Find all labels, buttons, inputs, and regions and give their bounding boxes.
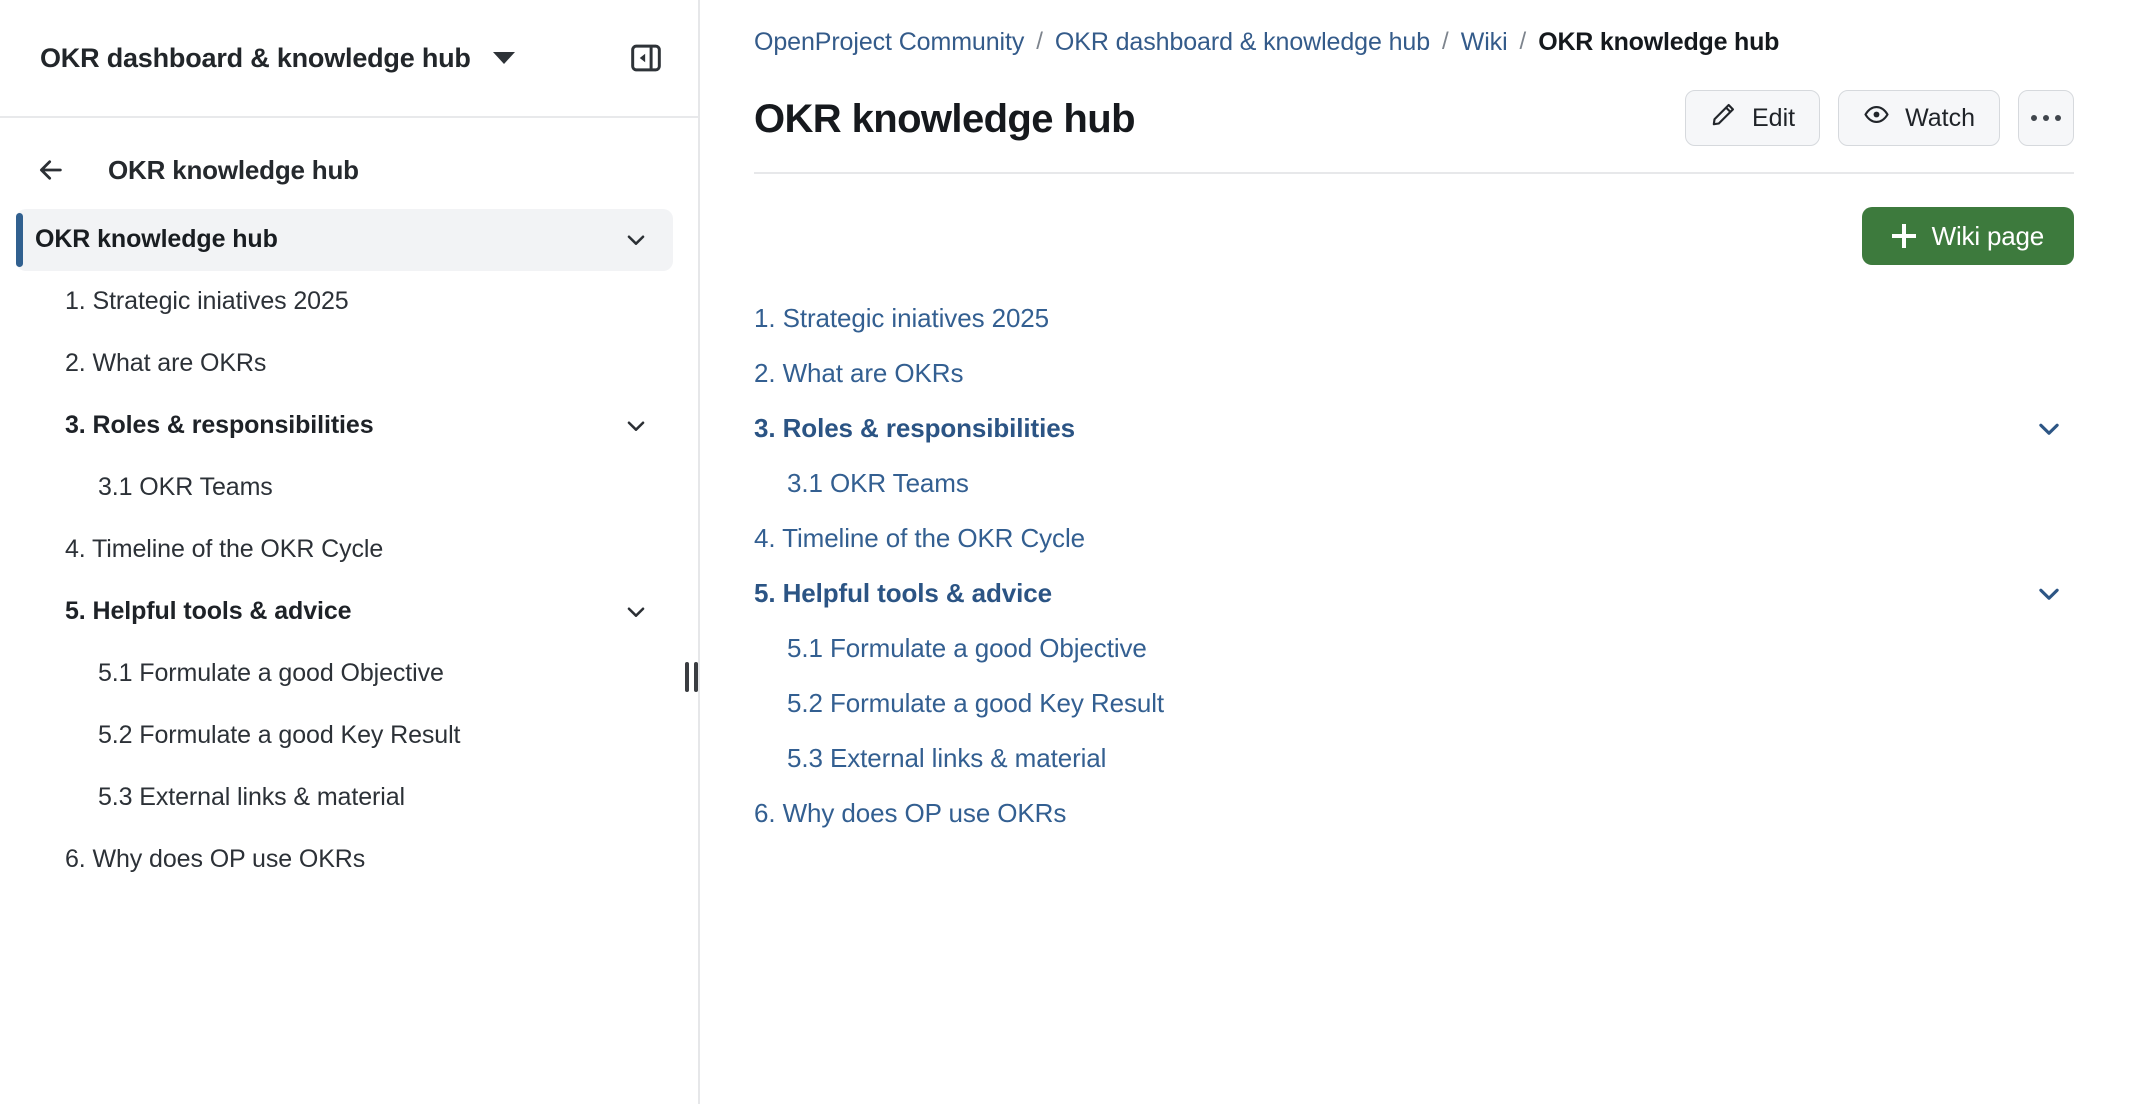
breadcrumb: OpenProject Community / OKR dashboard & …: [754, 0, 2074, 84]
sidebar-item-external-links-material[interactable]: 5.3 External links & material: [16, 767, 673, 829]
sidebar-item-roles-responsibilities[interactable]: 3. Roles & responsibilities: [16, 395, 673, 457]
list-item[interactable]: 2. What are OKRs: [754, 346, 2074, 401]
resize-grip-bar: [685, 662, 689, 692]
sidebar-item-okr-knowledge-hub[interactable]: OKR knowledge hub: [16, 209, 673, 271]
chevron-down-icon[interactable]: [2032, 412, 2066, 446]
sidebar-item-strategic-iniatives-2025[interactable]: 1. Strategic iniatives 2025: [16, 271, 673, 333]
sidebar-header: OKR dashboard & knowledge hub: [0, 0, 698, 118]
wiki-link-okr-teams[interactable]: 3.1 OKR Teams: [787, 468, 969, 499]
chevron-down-icon[interactable]: [621, 225, 651, 255]
list-item[interactable]: 3.1 OKR Teams: [754, 456, 2074, 511]
sidebar-collapse-icon[interactable]: [620, 32, 672, 84]
sidebar-back-row[interactable]: OKR knowledge hub: [0, 131, 698, 209]
project-selector[interactable]: OKR dashboard & knowledge hub: [40, 43, 620, 74]
wiki-toolbar: Wiki page: [754, 174, 2074, 265]
sidebar-item-formulate-a-good-objective[interactable]: 5.1 Formulate a good Objective: [16, 643, 673, 705]
wiki-link-formulate-a-good-objective[interactable]: 5.1 Formulate a good Objective: [787, 633, 1147, 664]
main-content: OpenProject Community / OKR dashboard & …: [700, 0, 2134, 1104]
sidebar-item-label: 5.3 External links & material: [16, 782, 405, 813]
arrow-left-icon[interactable]: [34, 153, 68, 187]
sidebar-item-label: 1. Strategic iniatives 2025: [16, 286, 349, 317]
sidebar-item-helpful-tools-advice[interactable]: 5. Helpful tools & advice: [16, 581, 673, 643]
breadcrumb-separator: /: [1508, 28, 1539, 56]
list-item[interactable]: 6. Why does OP use OKRs: [754, 786, 2074, 841]
sidebar-item-label: OKR knowledge hub: [16, 224, 278, 255]
sidebar-item-label: 3. Roles & responsibilities: [16, 410, 374, 441]
breadcrumb-item-current: OKR knowledge hub: [1538, 28, 1779, 57]
breadcrumb-item-openproject-community[interactable]: OpenProject Community: [754, 28, 1024, 57]
wiki-link-formulate-a-good-key-result[interactable]: 5.2 Formulate a good Key Result: [787, 688, 1164, 719]
add-wiki-page-label: Wiki page: [1932, 221, 2044, 252]
sidebar-item-formulate-a-good-key-result[interactable]: 5.2 Formulate a good Key Result: [16, 705, 673, 767]
list-item[interactable]: 4. Timeline of the OKR Cycle: [754, 511, 2074, 566]
sidebar: OKR dashboard & knowledge hub OKR knowle…: [0, 0, 700, 1104]
breadcrumb-separator: /: [1024, 28, 1055, 56]
page-title: OKR knowledge hub: [754, 90, 1135, 142]
sidebar-item-why-does-op-use-okrs[interactable]: 6. Why does OP use OKRs: [16, 829, 673, 891]
breadcrumb-item-wiki[interactable]: Wiki: [1461, 28, 1508, 57]
caret-down-icon: [493, 52, 515, 64]
sidebar-item-label: 6. Why does OP use OKRs: [16, 844, 365, 875]
sidebar-item-label: 5.1 Formulate a good Objective: [16, 658, 444, 689]
list-item[interactable]: 5.2 Formulate a good Key Result: [754, 676, 2074, 731]
wiki-link-why-does-op-use-okrs[interactable]: 6. Why does OP use OKRs: [754, 798, 1066, 829]
breadcrumb-separator: /: [1430, 28, 1461, 56]
sidebar-item-label: 5. Helpful tools & advice: [16, 596, 351, 627]
chevron-down-icon[interactable]: [621, 411, 651, 441]
list-item[interactable]: 5. Helpful tools & advice: [754, 566, 2074, 621]
wiki-link-timeline-of-the-okr-cycle[interactable]: 4. Timeline of the OKR Cycle: [754, 523, 1085, 554]
sidebar-item-what-are-okrs[interactable]: 2. What are OKRs: [16, 333, 673, 395]
wiki-link-strategic-iniatives-2025[interactable]: 1. Strategic iniatives 2025: [754, 303, 1049, 334]
wiki-link-roles-responsibilities[interactable]: 3. Roles & responsibilities: [754, 413, 1075, 444]
plus-icon: [1892, 224, 1916, 248]
wiki-link-helpful-tools-advice[interactable]: 5. Helpful tools & advice: [754, 578, 1052, 609]
app-root: OKR dashboard & knowledge hub OKR knowle…: [0, 0, 2134, 1104]
edit-button[interactable]: Edit: [1685, 90, 1820, 146]
watch-button-label: Watch: [1905, 104, 1975, 133]
pencil-icon: [1710, 101, 1737, 135]
sidebar-item-okr-teams[interactable]: 3.1 OKR Teams: [16, 457, 673, 519]
list-item[interactable]: 1. Strategic iniatives 2025: [754, 291, 2074, 346]
sidebar-item-label: 3.1 OKR Teams: [16, 472, 273, 503]
page-actions: Edit Watch: [1685, 90, 2074, 146]
resize-grip-bar: [694, 662, 698, 692]
more-options-button[interactable]: [2018, 90, 2074, 146]
eye-icon: [1863, 101, 1890, 135]
chevron-down-icon[interactable]: [621, 597, 651, 627]
wiki-link-external-links-material[interactable]: 5.3 External links & material: [787, 743, 1106, 774]
list-item[interactable]: 5.3 External links & material: [754, 731, 2074, 786]
list-item[interactable]: 5.1 Formulate a good Objective: [754, 621, 2074, 676]
sidebar-item-label: 2. What are OKRs: [16, 348, 266, 379]
sidebar-menu: OKR knowledge hub 1. Strategic iniatives…: [0, 209, 698, 891]
more-horizontal-icon: [2031, 115, 2061, 121]
wiki-page-list: 1. Strategic iniatives 2025 2. What are …: [754, 265, 2074, 841]
edit-button-label: Edit: [1752, 104, 1795, 133]
sidebar-section-title: OKR knowledge hub: [108, 155, 359, 186]
watch-button[interactable]: Watch: [1838, 90, 2000, 146]
sidebar-item-timeline-of-the-okr-cycle[interactable]: 4. Timeline of the OKR Cycle: [16, 519, 673, 581]
list-item[interactable]: 3. Roles & responsibilities: [754, 401, 2074, 456]
project-name: OKR dashboard & knowledge hub: [40, 43, 471, 74]
wiki-link-what-are-okrs[interactable]: 2. What are OKRs: [754, 358, 963, 389]
add-wiki-page-button[interactable]: Wiki page: [1862, 207, 2074, 265]
sidebar-item-label: 4. Timeline of the OKR Cycle: [16, 534, 383, 565]
sidebar-item-label: 5.2 Formulate a good Key Result: [16, 720, 460, 751]
sidebar-resize-handle[interactable]: [683, 660, 699, 694]
chevron-down-icon[interactable]: [2032, 577, 2066, 611]
breadcrumb-item-okr-dashboard[interactable]: OKR dashboard & knowledge hub: [1055, 28, 1430, 57]
page-header: OKR knowledge hub Edit: [754, 84, 2074, 174]
